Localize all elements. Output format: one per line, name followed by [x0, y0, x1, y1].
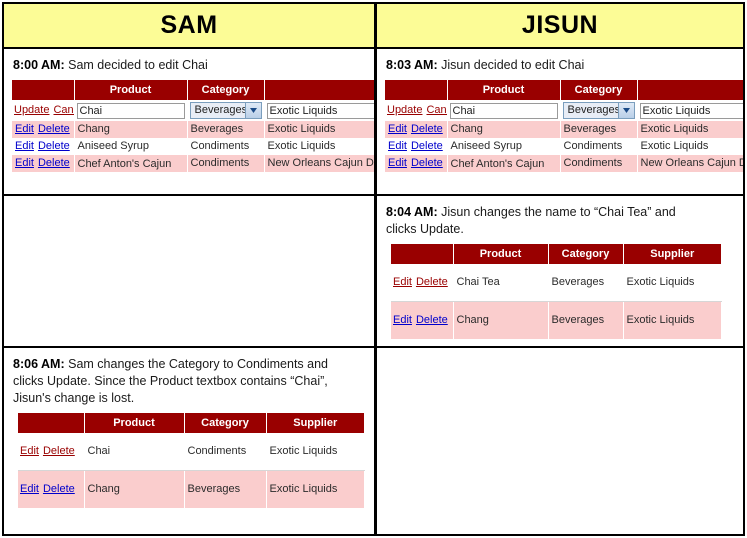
- table-header-row: Product Category Supplier: [12, 80, 374, 100]
- supplier-edit-cell: [637, 100, 743, 121]
- table-row[interactable]: EditDelete Chang Beverages Exotic Liquid…: [18, 471, 364, 509]
- cell-supplier: New Orleans Cajun Delights: [264, 155, 374, 172]
- column-header-product: Product: [74, 80, 187, 100]
- edit-link[interactable]: Edit: [393, 314, 412, 326]
- column-header-supplier: Supplier: [623, 244, 721, 264]
- category-edit-cell: Beverages: [560, 100, 637, 121]
- cell-category: Condiments: [184, 433, 266, 471]
- cell-category: Beverages: [187, 121, 264, 138]
- row-commands-cell: EditDelete: [391, 302, 453, 340]
- panel-header-sam: SAM: [4, 4, 374, 47]
- column-header-category: Category: [548, 244, 623, 264]
- category-select-value: Beverages: [568, 104, 621, 117]
- delete-link[interactable]: Delete: [38, 157, 70, 169]
- cell-supplier: Exotic Liquids: [264, 138, 374, 155]
- delete-link[interactable]: Delete: [43, 483, 75, 495]
- column-header-product: Product: [447, 80, 560, 100]
- cell-category: Beverages: [548, 264, 623, 302]
- update-link[interactable]: Update: [387, 104, 422, 116]
- step-caption-jisun-803: 8:03 AM: Jisun decided to edit Chai: [386, 57, 733, 74]
- chevron-down-icon[interactable]: [245, 103, 261, 118]
- product-edit-cell: [74, 100, 187, 121]
- cell-category: Beverages: [560, 121, 637, 138]
- cell-product: Chang: [84, 471, 184, 509]
- cell-category: Beverages: [184, 471, 266, 509]
- step-time-sam-806: 8:06 AM:: [13, 357, 65, 371]
- cell-product: Chang: [453, 302, 548, 340]
- edit-link[interactable]: Edit: [388, 140, 407, 152]
- cancel-link[interactable]: Cancel: [426, 104, 447, 116]
- cell-product: Chef Anton's Cajun: [447, 155, 560, 172]
- cell-supplier: Exotic Liquids: [623, 302, 721, 340]
- row-commands-cell: EditDelete: [391, 264, 453, 302]
- step-time-jisun-804: 8:04 AM:: [386, 205, 438, 219]
- row-commands-cell: EditDelete: [385, 121, 447, 138]
- column-header-category: Category: [187, 80, 264, 100]
- delete-link[interactable]: Delete: [43, 445, 75, 457]
- cell-supplier: Exotic Liquids: [266, 433, 364, 471]
- column-header-product: Product: [453, 244, 548, 264]
- products-table-sam-800: Product Category Supplier UpdateCancel: [12, 80, 374, 172]
- cell-category: Condiments: [187, 155, 264, 172]
- edit-link[interactable]: Edit: [15, 140, 34, 152]
- column-header-supplier: Supplier: [637, 80, 743, 100]
- gridview-sam-806: Product Category Supplier EditDelete Cha…: [18, 413, 370, 511]
- column-header-category: Category: [560, 80, 637, 100]
- table-row[interactable]: EditDelete Chang Beverages Exotic Liquid…: [391, 302, 721, 340]
- cell-category: Condiments: [560, 155, 637, 172]
- gridview-jisun-803: Product Category Supplier UpdateCancel: [385, 80, 743, 172]
- cell-product: Chai Tea: [453, 264, 548, 302]
- column-header-product: Product: [84, 413, 184, 433]
- delete-link[interactable]: Delete: [38, 123, 70, 135]
- cell-product: Aniseed Syrup: [74, 138, 187, 155]
- table-row[interactable]: EditDelete Aniseed Syrup Condiments Exot…: [385, 138, 743, 155]
- cell-product: Chang: [74, 121, 187, 138]
- step-caption-sam-800: 8:00 AM: Sam decided to edit Chai: [13, 57, 364, 74]
- table-header-row: Product Category Supplier: [385, 80, 743, 100]
- row-commands-cell: EditDelete: [18, 433, 84, 471]
- step-text-jisun-803: Jisun decided to edit Chai: [438, 58, 585, 72]
- cell-supplier: Exotic Liquids: [623, 264, 721, 302]
- row-commands-cell: EditDelete: [12, 155, 74, 172]
- step-cell-sam-800: 8:00 AM: Sam decided to edit Chai Produc…: [4, 49, 374, 194]
- step-cell-sam-806: 8:06 AM: Sam changes the Category to Con…: [4, 348, 374, 534]
- cell-product: Chef Anton's Cajun: [74, 155, 187, 172]
- gridview-jisun-804: Product Category Supplier EditDelete Cha…: [391, 244, 741, 342]
- cell-product: Aniseed Syrup: [447, 138, 560, 155]
- cell-category: Beverages: [548, 302, 623, 340]
- delete-link[interactable]: Delete: [411, 140, 443, 152]
- column-header-commands: [18, 413, 84, 433]
- product-edit-cell: [447, 100, 560, 121]
- table-row[interactable]: EditDelete Chai Tea Beverages Exotic Liq…: [391, 264, 721, 302]
- row-commands-cell: EditDelete: [12, 121, 74, 138]
- table-header-row: Product Category Supplier: [18, 413, 364, 433]
- supplier-input[interactable]: [267, 103, 375, 119]
- table-row[interactable]: EditDelete Chang Beverages Exotic Liquid…: [12, 121, 374, 138]
- column-header-category: Category: [184, 413, 266, 433]
- cell-category: Condiments: [187, 138, 264, 155]
- cell-category: Condiments: [560, 138, 637, 155]
- row-commands-cell: EditDelete: [385, 155, 447, 172]
- table-header-row: Product Category Supplier: [391, 244, 721, 264]
- table-row[interactable]: EditDelete Chai Condiments Exotic Liquid…: [18, 433, 364, 471]
- column-header-supplier: Supplier: [266, 413, 364, 433]
- supplier-edit-cell: [264, 100, 374, 121]
- cell-supplier: Exotic Liquids: [264, 121, 374, 138]
- screenshot-root: SAM JISUN 8:00 AM: Sam decided to edit C…: [0, 0, 747, 538]
- supplier-input[interactable]: [640, 103, 744, 119]
- category-select-value: Beverages: [195, 104, 248, 117]
- chevron-down-icon[interactable]: [618, 103, 634, 118]
- products-table-jisun-803: Product Category Supplier UpdateCancel: [385, 80, 743, 172]
- edit-link[interactable]: Edit: [20, 483, 39, 495]
- table-row[interactable]: EditDelete Chang Beverages Exotic Liquid…: [385, 121, 743, 138]
- cell-product: Chang: [447, 121, 560, 138]
- cell-supplier: Exotic Liquids: [637, 138, 743, 155]
- step-cell-jisun-803: 8:03 AM: Jisun decided to edit Chai Prod…: [377, 49, 743, 194]
- row-commands-cell: EditDelete: [18, 471, 84, 509]
- products-table-sam-806: Product Category Supplier EditDelete Cha…: [18, 413, 365, 508]
- edit-link[interactable]: Edit: [15, 157, 34, 169]
- table-row[interactable]: EditDelete Aniseed Syrup Condiments Exot…: [12, 138, 374, 155]
- table-row-edit: UpdateCancel Beverages: [12, 100, 374, 121]
- category-select[interactable]: Beverages: [190, 102, 262, 119]
- step-cell-jisun-804: 8:04 AM: Jisun changes the name to “Chai…: [377, 196, 743, 346]
- panel-title-jisun: JISUN: [522, 11, 598, 40]
- step-caption-sam-806: 8:06 AM: Sam changes the Category to Con…: [13, 356, 360, 407]
- update-link[interactable]: Update: [14, 104, 49, 116]
- cell-supplier: Exotic Liquids: [637, 121, 743, 138]
- category-select[interactable]: Beverages: [563, 102, 635, 119]
- table-row[interactable]: EditDelete Chef Anton's Cajun Condiments…: [385, 155, 743, 172]
- delete-link[interactable]: Delete: [416, 314, 448, 326]
- comparison-grid: SAM JISUN 8:00 AM: Sam decided to edit C…: [2, 2, 745, 536]
- delete-link[interactable]: Delete: [416, 276, 448, 288]
- cell-supplier: New Orleans Cajun Delights: [637, 155, 743, 172]
- step-caption-jisun-804: 8:04 AM: Jisun changes the name to “Chai…: [386, 204, 697, 238]
- cancel-link[interactable]: Cancel: [53, 104, 74, 116]
- panel-header-jisun: JISUN: [377, 4, 743, 47]
- product-input[interactable]: [450, 103, 558, 119]
- column-header-supplier: Supplier: [264, 80, 374, 100]
- step-text-sam-800: Sam decided to edit Chai: [65, 58, 208, 72]
- table-row-edit: UpdateCancel Beverages: [385, 100, 743, 121]
- row-commands-cell: UpdateCancel: [12, 100, 74, 121]
- step-time-sam-800: 8:00 AM:: [13, 58, 65, 72]
- column-header-commands: [391, 244, 453, 264]
- cell-product: Chai: [84, 433, 184, 471]
- edit-link[interactable]: Edit: [388, 123, 407, 135]
- row-commands-cell: EditDelete: [12, 138, 74, 155]
- step-cell-jisun-blank: [377, 348, 743, 534]
- gridview-sam-800: Product Category Supplier UpdateCancel: [12, 80, 374, 172]
- category-edit-cell: Beverages: [187, 100, 264, 121]
- panel-title-sam: SAM: [160, 11, 217, 40]
- edit-link[interactable]: Edit: [388, 157, 407, 169]
- product-input[interactable]: [77, 103, 185, 119]
- edit-link[interactable]: Edit: [15, 123, 34, 135]
- delete-link[interactable]: Delete: [38, 140, 70, 152]
- step-time-jisun-803: 8:03 AM:: [386, 58, 438, 72]
- delete-link[interactable]: Delete: [411, 157, 443, 169]
- cell-supplier: Exotic Liquids: [266, 471, 364, 509]
- table-row[interactable]: EditDelete Chef Anton's Cajun Condiments…: [12, 155, 374, 172]
- row-commands-cell: EditDelete: [385, 138, 447, 155]
- edit-link[interactable]: Edit: [20, 445, 39, 457]
- delete-link[interactable]: Delete: [411, 123, 443, 135]
- row-commands-cell: UpdateCancel: [385, 100, 447, 121]
- edit-link[interactable]: Edit: [393, 276, 412, 288]
- column-header-commands: [12, 80, 74, 100]
- column-header-commands: [385, 80, 447, 100]
- step-cell-sam-blank: [4, 196, 374, 346]
- products-table-jisun-804: Product Category Supplier EditDelete Cha…: [391, 244, 722, 339]
